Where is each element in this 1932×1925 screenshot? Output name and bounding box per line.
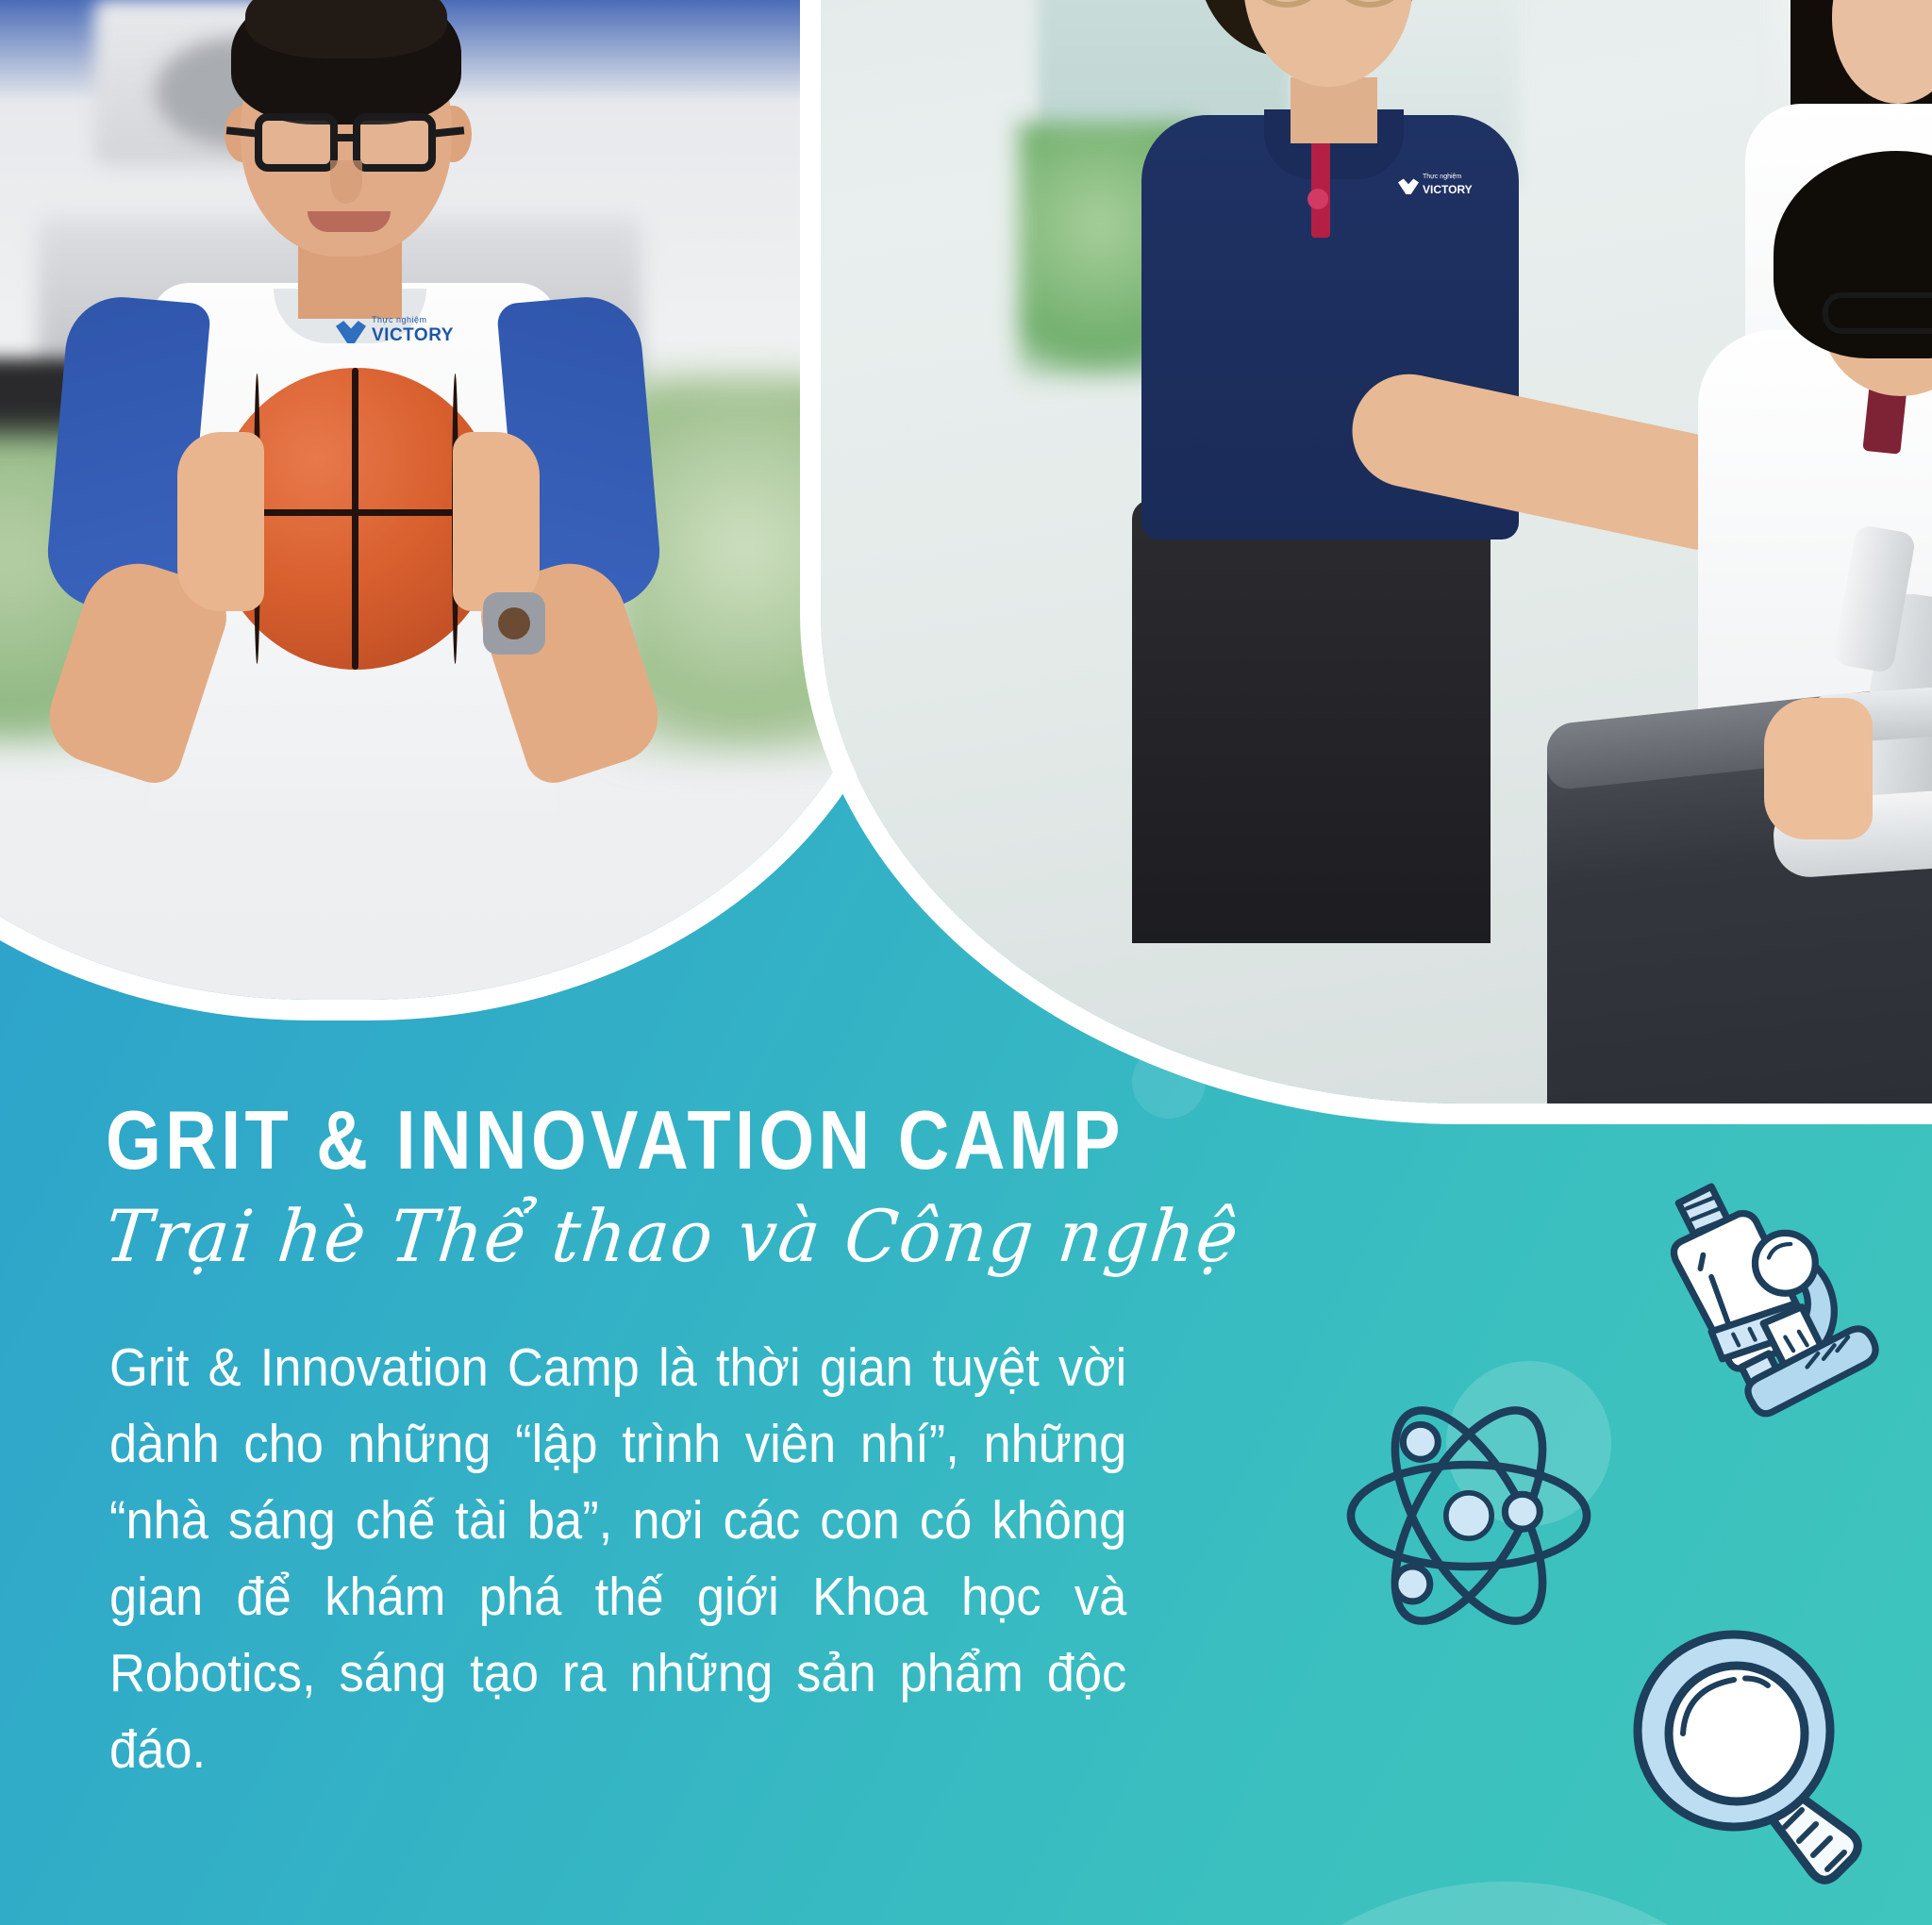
shirt-logo-sub: Thực nghiệm bbox=[372, 315, 427, 324]
victory-bird-icon bbox=[336, 319, 366, 343]
page-title: GRIT & INNOVATION CAMP bbox=[106, 1099, 1079, 1182]
shirt-logo: Thực nghiệm VICTORY bbox=[336, 315, 449, 355]
shirt-logo-main: VICTORY bbox=[372, 325, 454, 346]
polo-logo-main: VICTORY bbox=[1423, 183, 1473, 196]
wristwatch bbox=[483, 592, 545, 655]
microscope-icon bbox=[1632, 1162, 1906, 1435]
photo-collage: Thực nghiệm VICTORY bbox=[0, 0, 1932, 1113]
body-paragraph: Grit & Innovation Camp là thời gian tuyệ… bbox=[109, 1330, 1126, 1788]
photo-science-lab: Thực nghiệm VICTORY bbox=[821, 0, 1932, 1104]
victory-bird-icon bbox=[1398, 177, 1419, 194]
poster-canvas: Thực nghiệm VICTORY bbox=[0, 0, 1932, 1925]
polo-logo-sub: Thực nghiệm bbox=[1423, 174, 1461, 180]
polo-logo: Thực nghiệm VICTORY bbox=[1398, 172, 1474, 202]
atom-icon bbox=[1332, 1388, 1606, 1643]
page-subtitle: Trại hè Thể thao và Công nghệ bbox=[102, 1197, 1197, 1276]
title-block: GRIT & INNOVATION CAMP Trại hè Thể thao … bbox=[106, 1099, 1238, 1276]
magnifier-icon bbox=[1621, 1620, 1904, 1903]
photo-basketball-student: Thực nghiệm VICTORY bbox=[0, 0, 896, 1000]
